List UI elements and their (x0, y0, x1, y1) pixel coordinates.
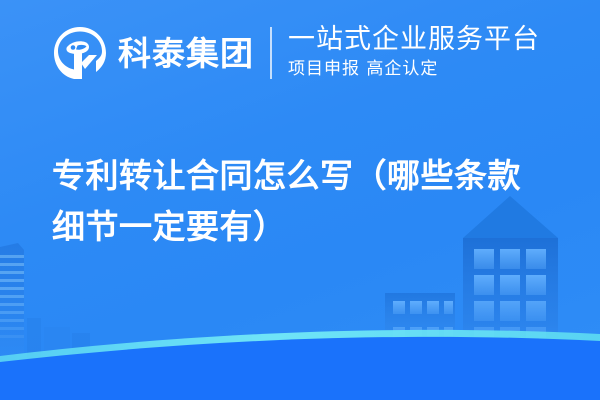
header-divider (270, 27, 272, 79)
banner-root: 科泰集团 一站式企业服务平台 项目申报 高企认定 专利转让合同怎么写（哪些条款细… (0, 0, 600, 400)
page-title: 专利转让合同怎么写（哪些条款细节一定要有） (52, 150, 552, 252)
left-lowrise-shapes (27, 318, 90, 360)
left-tower-shape (0, 243, 24, 360)
right-short-building (385, 293, 455, 363)
brand-header: 科泰集团 一站式企业服务平台 项目申报 高企认定 (52, 18, 540, 88)
tagline-block: 一站式企业服务平台 项目申报 高企认定 (288, 25, 540, 80)
ground-curve (0, 330, 600, 400)
ketai-circle-emblem-icon (52, 25, 108, 81)
tagline-sub: 项目申报 高企认定 (288, 58, 540, 81)
tagline-main: 一站式企业服务平台 (288, 25, 540, 55)
brand-name: 科泰集团 (118, 37, 254, 70)
